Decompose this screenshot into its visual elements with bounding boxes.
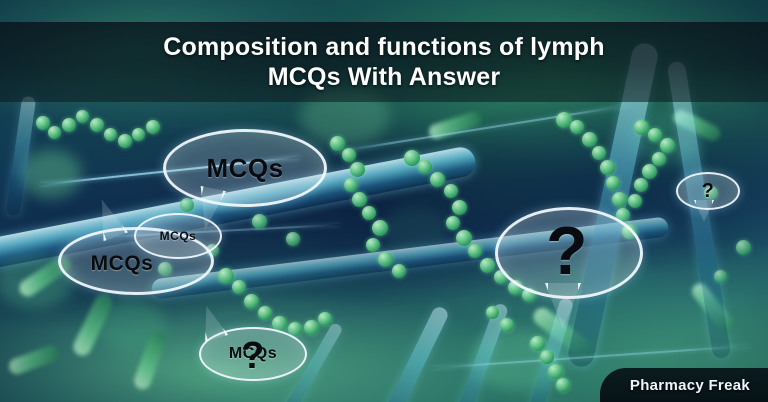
bubble-label-mcqs-left-small: MCQs	[160, 230, 197, 242]
bubble-label-mcqs-left-large: MCQs	[91, 253, 154, 274]
watermark-banner: Pharmacy Freak	[600, 368, 768, 402]
page-title-line-2: MCQs With Answer	[268, 62, 501, 92]
title-banner: Composition and functions of lymph MCQs …	[0, 22, 768, 102]
question-mark-icon-small: ?	[702, 181, 715, 201]
question-mark-icon-overlay: ?	[241, 337, 265, 375]
featured-image-canvas: MCQs MCQs MCQs MCQs ? ? ?	[0, 0, 768, 402]
page-title-line-1: Composition and functions of lymph	[163, 32, 605, 62]
bubble-label-mcqs-main: MCQs	[206, 155, 283, 181]
question-mark-icon-large: ?	[546, 217, 588, 285]
watermark-brand-name: Pharmacy Freak	[630, 377, 750, 394]
